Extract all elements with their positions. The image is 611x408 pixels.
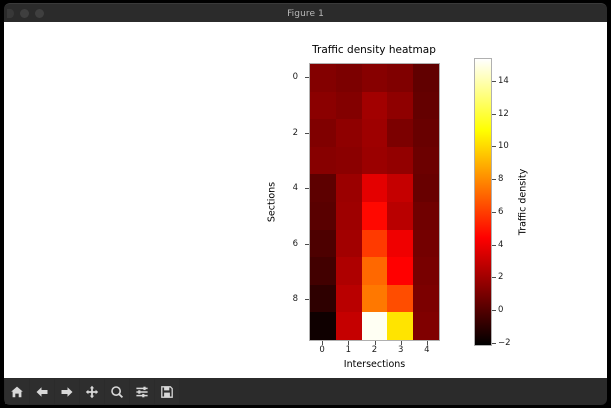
colorbar (474, 58, 492, 346)
x-tick-mark (322, 341, 323, 345)
x-tick-mark (427, 341, 428, 345)
subplot-sliders-icon[interactable] (130, 379, 154, 404)
colorbar-tick-label: 10 (498, 141, 509, 151)
x-axis-label: Intersections (309, 359, 440, 370)
window-title: Figure 1 (4, 9, 607, 19)
heatmap-cell (362, 312, 388, 340)
heatmap-cell (336, 147, 362, 175)
heatmap-cell (336, 174, 362, 202)
y-tick-mark (305, 77, 309, 78)
heatmap-cell (387, 119, 413, 147)
heatmap-cell (336, 312, 362, 340)
pan-move-icon[interactable] (80, 379, 104, 404)
colorbar-tick-label: 6 (498, 207, 503, 217)
colorbar-tick-label: 4 (498, 240, 503, 250)
y-tick-label: 0 (258, 72, 298, 82)
x-tick-label: 1 (346, 345, 351, 355)
window-titlebar: Figure 1 (4, 3, 607, 23)
heatmap-cell (362, 119, 388, 147)
x-tick-mark (375, 341, 376, 345)
forward-arrow-icon[interactable] (55, 379, 79, 404)
heatmap-cell (336, 119, 362, 147)
maximize-button[interactable] (35, 9, 44, 18)
figure-canvas[interactable]: Traffic density heatmap 02468 01234 Inte… (4, 22, 607, 378)
x-tick-label: 3 (398, 345, 403, 355)
colorbar-tick-mark (492, 310, 496, 311)
heatmap-cell (336, 230, 362, 258)
x-tick-mark (348, 341, 349, 345)
y-tick-mark (305, 299, 309, 300)
heatmap-cell (387, 230, 413, 258)
minimize-button[interactable] (20, 9, 29, 18)
colorbar-tick-label: 12 (498, 109, 509, 119)
heatmap-axes (309, 63, 440, 341)
y-tick-mark (305, 244, 309, 245)
zoom-magnifier-icon[interactable] (105, 379, 129, 404)
heatmap-grid (310, 64, 439, 340)
heatmap-cell (387, 64, 413, 92)
y-tick-mark (305, 188, 309, 189)
y-tick-label: 6 (258, 239, 298, 249)
heatmap-cell (413, 64, 439, 92)
x-tick-label: 4 (424, 345, 429, 355)
save-floppy-icon[interactable] (155, 379, 179, 404)
heatmap-cell (362, 147, 388, 175)
figure-window: Figure 1 Traffic density heatmap 02468 0… (0, 0, 611, 408)
y-tick-mark (305, 133, 309, 134)
heatmap-cell (362, 285, 388, 313)
x-tick-mark (401, 341, 402, 345)
colorbar-label: Traffic density (518, 169, 529, 235)
heatmap-cell (310, 64, 336, 92)
home-icon[interactable] (5, 379, 29, 404)
heatmap-cell (387, 285, 413, 313)
heatmap-cell (387, 202, 413, 230)
heatmap-cell (362, 202, 388, 230)
colorbar-tick-mark (492, 146, 496, 147)
heatmap-cell (413, 230, 439, 258)
colorbar-gradient (475, 59, 491, 345)
chart-title: Traffic density heatmap (309, 44, 440, 56)
heatmap-cell (336, 64, 362, 92)
y-axis-label: Sections (267, 182, 278, 222)
heatmap-cell (310, 312, 336, 340)
colorbar-tick-mark (492, 245, 496, 246)
heatmap-cell (336, 257, 362, 285)
heatmap-cell (413, 202, 439, 230)
x-tick-label: 2 (372, 345, 377, 355)
heatmap-cell (413, 119, 439, 147)
colorbar-tick-mark (492, 114, 496, 115)
heatmap-cell (413, 147, 439, 175)
heatmap-cell (310, 257, 336, 285)
heatmap-cell (387, 257, 413, 285)
matplotlib-toolbar (4, 378, 607, 405)
heatmap-cell (362, 92, 388, 120)
colorbar-tick-label: 14 (498, 76, 509, 86)
heatmap-cell (387, 174, 413, 202)
heatmap-cell (336, 285, 362, 313)
heatmap-cell (310, 230, 336, 258)
y-tick-label: 4 (258, 183, 298, 193)
heatmap-cell (387, 147, 413, 175)
colorbar-tick-label: 0 (498, 305, 503, 315)
heatmap-cell (413, 174, 439, 202)
heatmap-cell (387, 92, 413, 120)
window-controls (11, 4, 44, 23)
colorbar-tick-label: 2 (498, 272, 503, 282)
heatmap-cell (336, 202, 362, 230)
heatmap-cell (413, 312, 439, 340)
back-arrow-icon[interactable] (30, 379, 54, 404)
colorbar-tick-mark (492, 343, 496, 344)
close-button[interactable] (7, 9, 14, 18)
colorbar-tick-label: −2 (498, 338, 511, 348)
x-tick-label: 0 (319, 345, 324, 355)
colorbar-tick-mark (492, 81, 496, 82)
y-tick-label: 8 (258, 294, 298, 304)
heatmap-cell (413, 92, 439, 120)
colorbar-tick-label: 8 (498, 174, 503, 184)
heatmap-cell (310, 92, 336, 120)
heatmap-cell (310, 119, 336, 147)
heatmap-cell (310, 285, 336, 313)
heatmap-cell (413, 257, 439, 285)
heatmap-cell (310, 202, 336, 230)
colorbar-tick-mark (492, 179, 496, 180)
heatmap-cell (362, 230, 388, 258)
heatmap-cell (362, 64, 388, 92)
y-tick-label: 2 (258, 128, 298, 138)
heatmap-cell (336, 92, 362, 120)
colorbar-tick-mark (492, 212, 496, 213)
colorbar-tick-mark (492, 277, 496, 278)
heatmap-cell (310, 174, 336, 202)
heatmap-cell (362, 174, 388, 202)
heatmap-cell (310, 147, 336, 175)
heatmap-cell (413, 285, 439, 313)
heatmap-cell (387, 312, 413, 340)
heatmap-cell (362, 257, 388, 285)
